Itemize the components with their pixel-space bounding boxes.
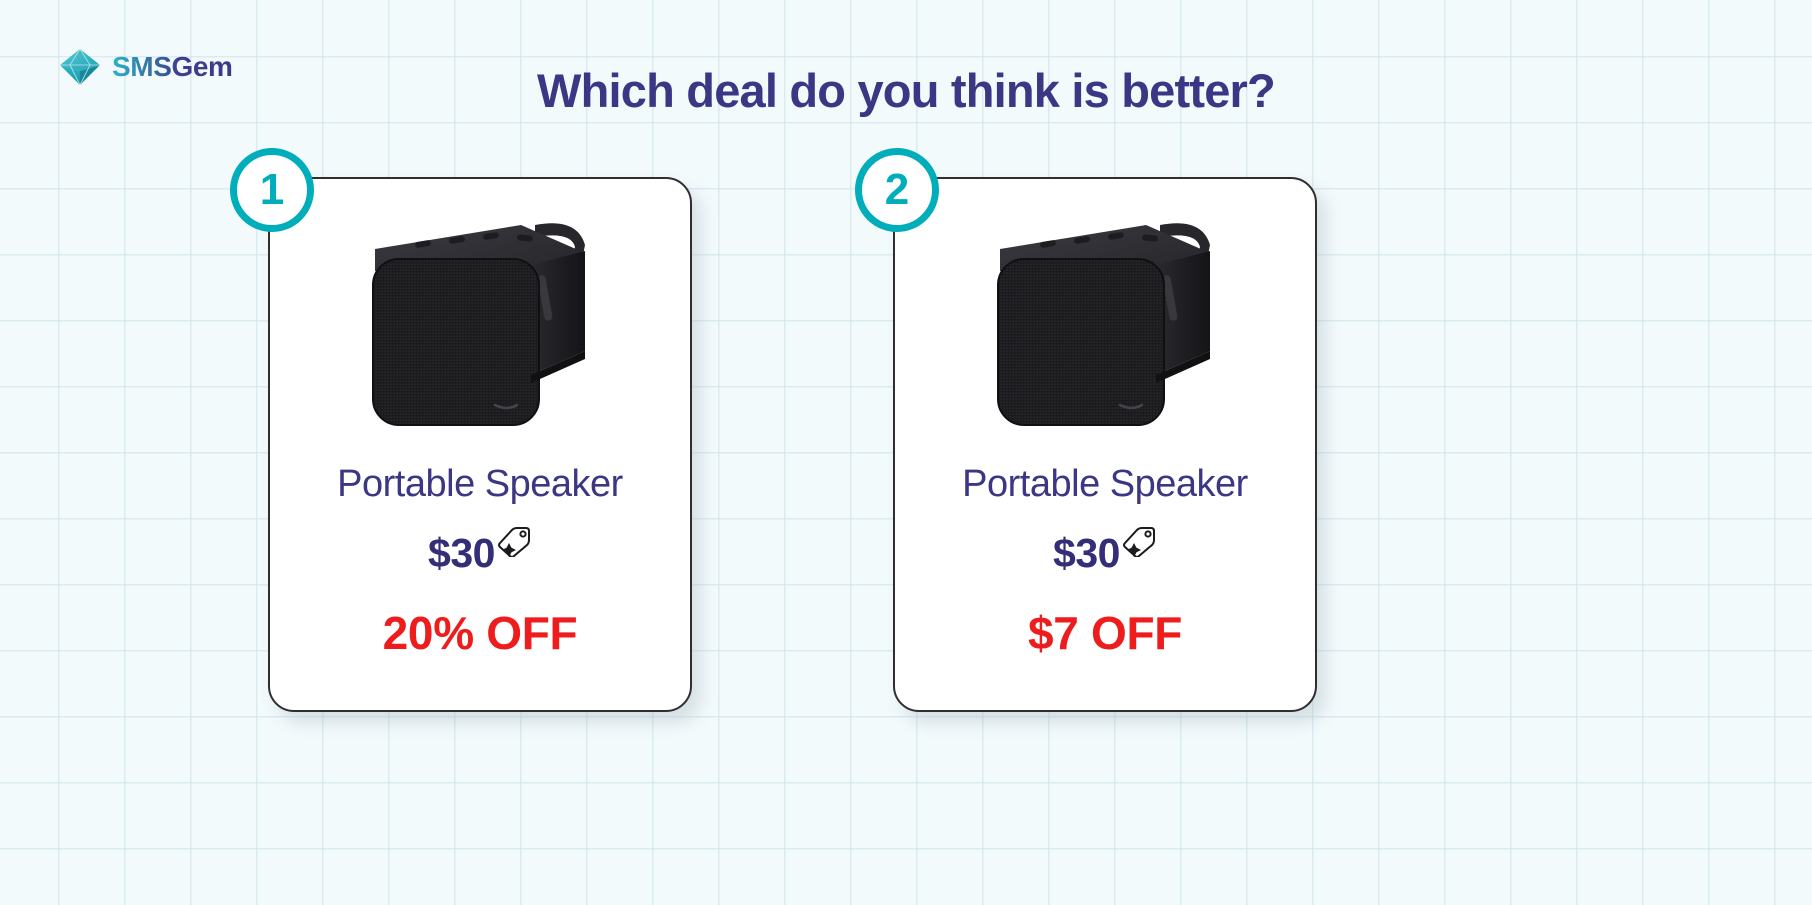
price-tag-icon <box>496 525 532 557</box>
discount-label: 20% OFF <box>383 610 578 656</box>
product-name: Portable Speaker <box>337 465 623 503</box>
product-name: Portable Speaker <box>962 465 1248 503</box>
page-title: Which deal do you think is better? <box>0 63 1812 118</box>
poster-canvas: SMSGem Which deal do you think is better… <box>0 0 1812 905</box>
option-badge-1: 1 <box>230 148 314 232</box>
price-value: $30 <box>428 533 495 574</box>
deal-card-1[interactable]: Portable Speaker $30 20% OFF <box>268 177 692 712</box>
price-tag-icon <box>1121 525 1157 557</box>
discount-label: $7 OFF <box>1028 610 1182 656</box>
price-row: $30 <box>1053 533 1157 574</box>
price-row: $30 <box>428 533 532 574</box>
portable-speaker-image <box>970 209 1240 441</box>
portable-speaker-image <box>345 209 615 441</box>
price-value: $30 <box>1053 533 1120 574</box>
deal-card-2[interactable]: Portable Speaker $30 $7 OFF <box>893 177 1317 712</box>
option-badge-2: 2 <box>855 148 939 232</box>
